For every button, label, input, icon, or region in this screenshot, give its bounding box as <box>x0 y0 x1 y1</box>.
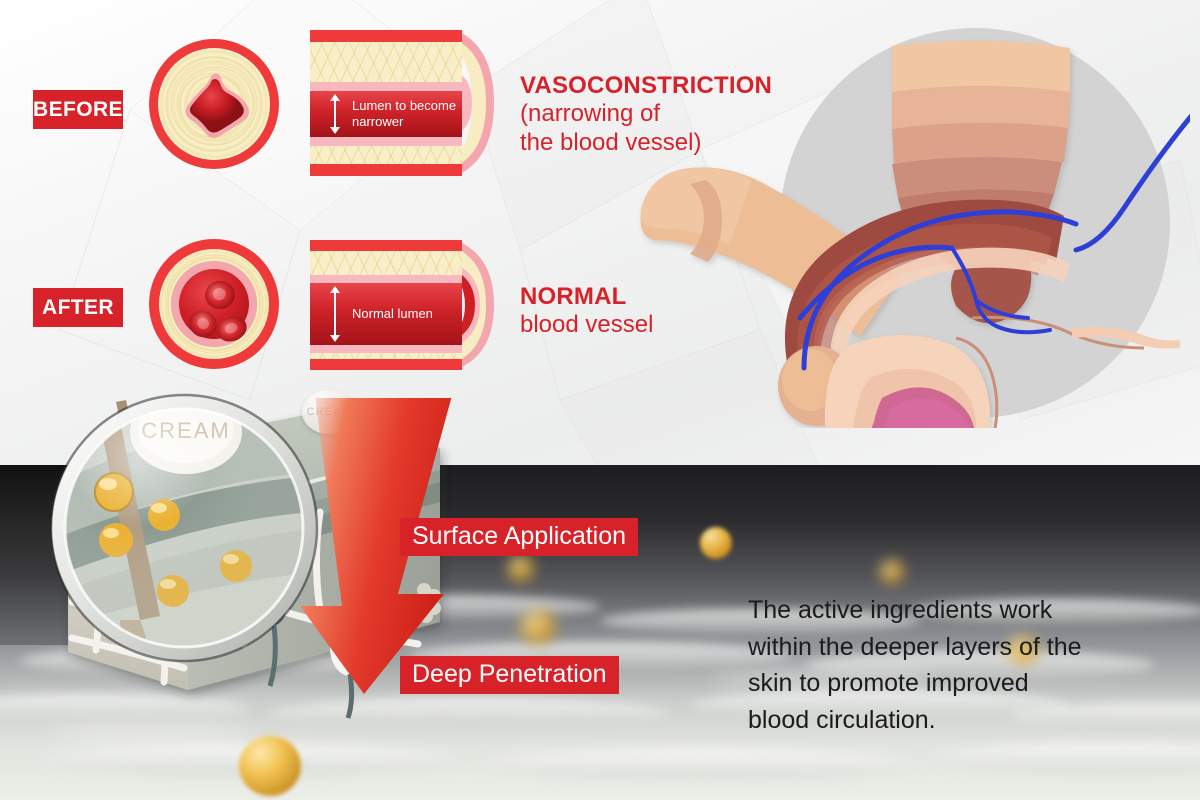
tube-outer-wall-bottom <box>310 164 462 176</box>
lumen-width-arrow <box>334 100 336 128</box>
lumen-caption: Normal lumen <box>352 306 433 322</box>
gold-bead <box>520 610 556 644</box>
cross-section-normal <box>149 239 279 369</box>
tube-media-top <box>310 251 462 275</box>
infographic-canvas: BEFORE <box>0 0 1200 800</box>
lumen-caption: Lumen to become narrower <box>352 98 456 130</box>
anatomy-illustration <box>620 18 1190 428</box>
tube-plaque-top <box>310 42 462 82</box>
vessel-tube-constricted: Lumen to become narrower <box>310 30 495 176</box>
tube-intima-top <box>310 82 462 91</box>
badge-after: AFTER <box>33 288 123 327</box>
tube-outer-wall-bottom <box>310 359 462 370</box>
vessel-tube-normal: Normal lumen <box>310 240 495 370</box>
gold-bead <box>239 736 301 796</box>
badge-before: BEFORE <box>33 90 123 129</box>
body-line-2: within the deeper layers of the <box>748 629 1168 666</box>
callout-deep-penetration: Deep Penetration <box>400 656 619 694</box>
gold-bead <box>508 556 534 582</box>
body-line-3: skin to promote improved <box>748 665 1168 702</box>
gold-bead <box>700 527 732 559</box>
tube-intima-bottom <box>310 137 462 146</box>
tube-intima-bottom <box>310 345 462 353</box>
narrowed-lumen-icon <box>149 39 279 169</box>
male-anatomy-cross-section-icon <box>620 18 1190 428</box>
body-paragraph: The active ingredients work within the d… <box>748 592 1168 738</box>
tube-intima-top <box>310 275 462 283</box>
tube-outer-wall-top <box>310 240 462 251</box>
cross-section-constricted <box>149 39 279 169</box>
callout-surface-application: Surface Application <box>400 518 638 556</box>
body-line-1: The active ingredients work <box>748 592 1168 629</box>
lumen-width-arrow <box>334 292 336 336</box>
tube-outer-wall-top <box>310 30 462 42</box>
gold-bead <box>880 560 904 584</box>
body-line-4: blood circulation. <box>748 702 1168 739</box>
